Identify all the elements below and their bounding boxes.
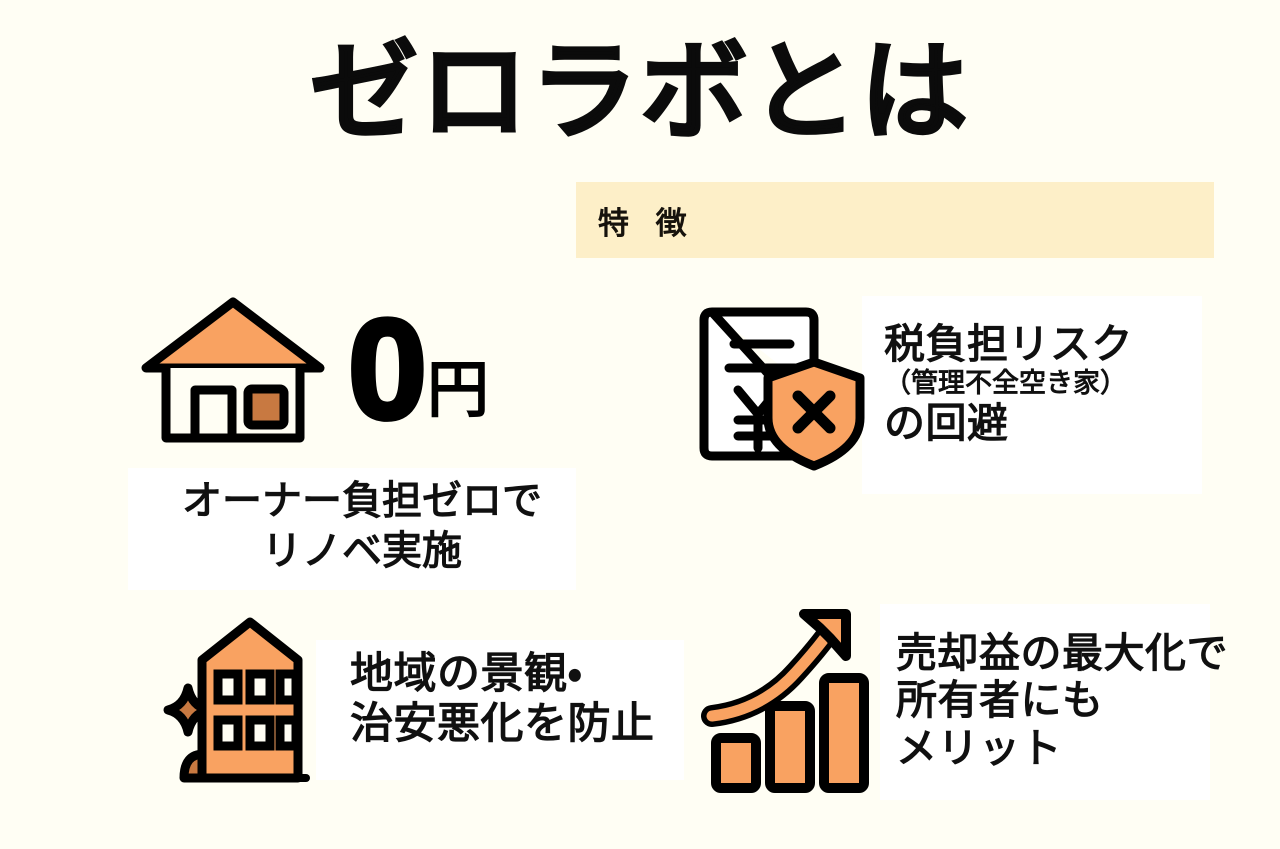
caption-line: 税負担リスク xyxy=(884,321,1133,369)
caption-line: オーナー負担ゼロで xyxy=(150,476,574,526)
caption-profit-maximization: 売却益の最大化で 所有者にも メリット xyxy=(896,630,1228,773)
caption-line: リノベ実施 xyxy=(150,526,574,576)
building-sparkle-icon xyxy=(140,610,324,790)
zero-unit: 円 xyxy=(427,360,489,422)
caption-line: 地域の景観・ xyxy=(350,650,655,700)
feature-profit-maximization: 売却益の最大化で 所有者にも メリット xyxy=(700,606,1228,796)
caption-townscape-safety: 地域の景観・ 治安悪化を防止 xyxy=(350,650,655,750)
caption-line: （管理不全空き家） xyxy=(884,368,1133,399)
caption-line: の回避 xyxy=(884,400,1133,448)
caption-line: 売却益の最大化で xyxy=(896,630,1228,678)
house-icon xyxy=(140,290,326,450)
page-title: ゼロラボとは xyxy=(0,34,1280,151)
zero-number: 0 xyxy=(348,312,423,428)
zero-yen-badge: 0 円 xyxy=(348,312,489,428)
feature-band-label: 特 徴 xyxy=(598,198,696,243)
feature-townscape-safety: 地域の景観・ 治安悪化を防止 xyxy=(140,610,655,790)
caption-line: 治安悪化を防止 xyxy=(350,700,655,750)
feature-band: 特 徴 xyxy=(576,182,1214,258)
caption-line: 所有者にも xyxy=(896,677,1228,725)
caption-owner-zero-cost: オーナー負担ゼロで リノベ実施 xyxy=(150,476,574,577)
growth-chart-icon xyxy=(700,606,880,796)
document-yen-shield-icon xyxy=(694,296,866,472)
feature-owner-zero-cost: 0 円 xyxy=(140,290,489,450)
feature-tax-risk-avoidance: 税負担リスク （管理不全空き家） の回避 xyxy=(694,296,1133,472)
caption-line: メリット xyxy=(896,725,1228,773)
caption-tax-risk-avoidance: 税負担リスク （管理不全空き家） の回避 xyxy=(884,321,1133,447)
